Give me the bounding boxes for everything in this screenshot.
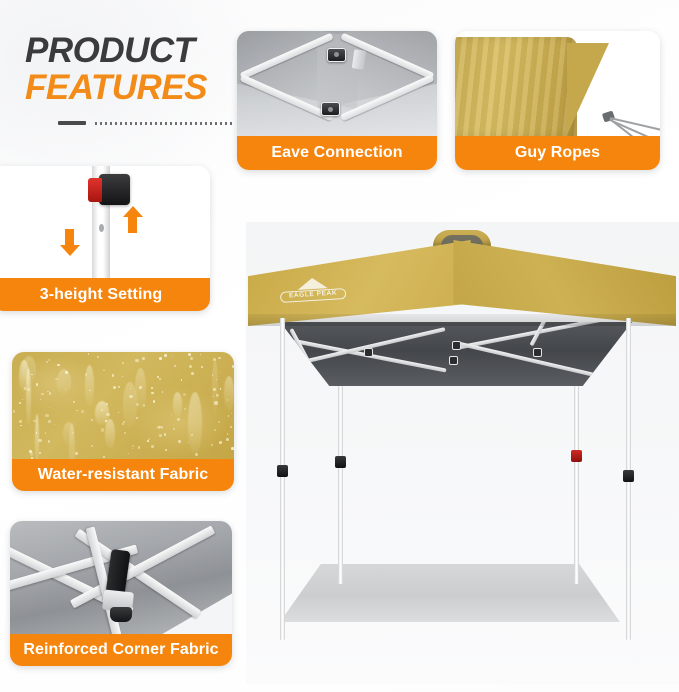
arrow-down-icon (65, 229, 74, 246)
feature-label-guy-ropes: Guy Ropes (455, 136, 660, 170)
feature-photo-eave-connection (237, 31, 437, 136)
leg-clip-back-left (335, 456, 346, 468)
feature-label-eave-connection: Eave Connection (237, 136, 437, 170)
divider-solid-segment (58, 121, 86, 125)
feature-photo-reinforced-corner (10, 521, 232, 634)
arrow-up-icon (128, 216, 137, 233)
feature-photo-guy-ropes (455, 31, 660, 136)
feature-label-reinforced-corner: Reinforced Corner Fabric (10, 634, 232, 666)
leg-clip-back-right (571, 450, 582, 462)
product-hero-image: EAGLE PEAK (246, 222, 679, 684)
feature-card-height-setting[interactable]: 3-height Setting (0, 166, 210, 311)
title-line-product: PRODUCT (25, 34, 255, 68)
leg-clip-front-right (623, 470, 634, 482)
feature-card-guy-ropes[interactable]: Guy Ropes (455, 31, 660, 170)
divider-dotted-segment (95, 122, 235, 125)
feature-card-eave-connection[interactable]: Eave Connection (237, 31, 437, 170)
brand-name-text: EAGLE PEAK (280, 288, 347, 303)
title-divider (58, 121, 255, 125)
brand-logo-eagle-peak: EAGLE PEAK (279, 276, 347, 310)
feature-card-water-resistant[interactable]: Water-resistant Fabric (12, 352, 234, 491)
feature-card-reinforced-corner[interactable]: Reinforced Corner Fabric (10, 521, 232, 666)
ground-shadow (280, 564, 620, 622)
feature-label-water-resistant: Water-resistant Fabric (12, 459, 234, 491)
canopy-underside-frame (280, 322, 632, 386)
page-title: PRODUCT FEATURES (25, 34, 255, 125)
feature-photo-water-resistant (12, 352, 234, 459)
title-line-features: FEATURES (25, 70, 255, 105)
canopy-leg-front-left (280, 318, 285, 640)
mountain-peak-icon (297, 277, 328, 290)
feature-photo-height-setting (0, 166, 210, 278)
feature-label-height-setting: 3-height Setting (0, 278, 210, 311)
infographic-page: PRODUCT FEATURES Eave Connection (0, 0, 679, 692)
leg-clip-front-left (277, 465, 288, 477)
